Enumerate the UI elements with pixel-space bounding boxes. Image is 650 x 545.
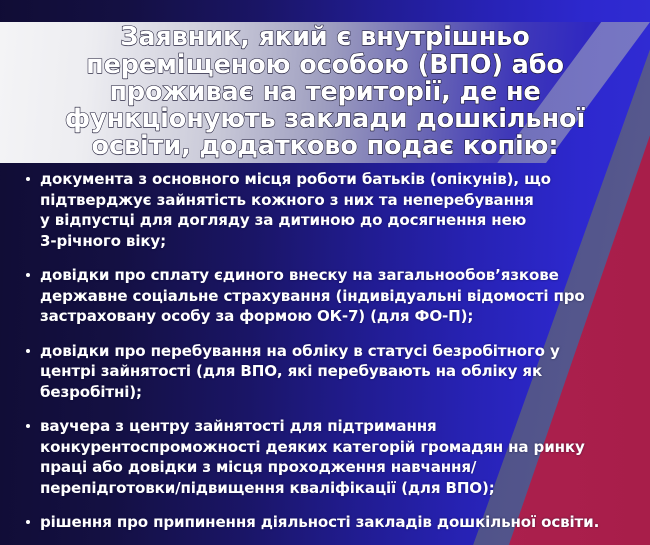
bullet-dot-icon [26,273,40,277]
title-line-5: освіти, додатково подає копію: [92,133,559,160]
list-item: документа з основного місця роботи батьк… [26,169,620,251]
bullet-dot-icon [26,349,40,353]
bullet-text: ваучера з центру зайнятості для підтрима… [40,416,620,498]
bullet-text: рішення про припинення діяльності заклад… [40,512,620,533]
bullet-text: довідки про перебування на обліку в стат… [40,341,620,403]
list-item: довідки про перебування на обліку в стат… [26,341,620,403]
title-line-1: Заявник, який є внутрішньо [120,24,529,51]
title-line-4: функціонують заклади дошкільної [65,106,585,133]
list-item: рішення про припинення діяльності заклад… [26,512,620,533]
bullet-list: документа з основного місця роботи батьк… [26,169,620,533]
bullet-dot-icon [26,424,40,428]
bullet-text: довідки про сплату єдиного внеску на заг… [40,265,620,327]
slide-title: Заявник, який є внутрішньо переміщеною о… [0,22,650,163]
list-item: довідки про сплату єдиного внеску на заг… [26,265,620,327]
list-item: ваучера з центру зайнятості для підтрима… [26,416,620,498]
bullet-dot-icon [26,520,40,524]
bullet-dot-icon [26,177,40,181]
slide-canvas: Заявник, який є внутрішньо переміщеною о… [0,0,650,545]
title-line-2: переміщеною особою (ВПО) або [86,52,564,79]
bullet-text: документа з основного місця роботи батьк… [40,169,620,251]
title-line-3: проживає на території, де не [109,79,540,106]
